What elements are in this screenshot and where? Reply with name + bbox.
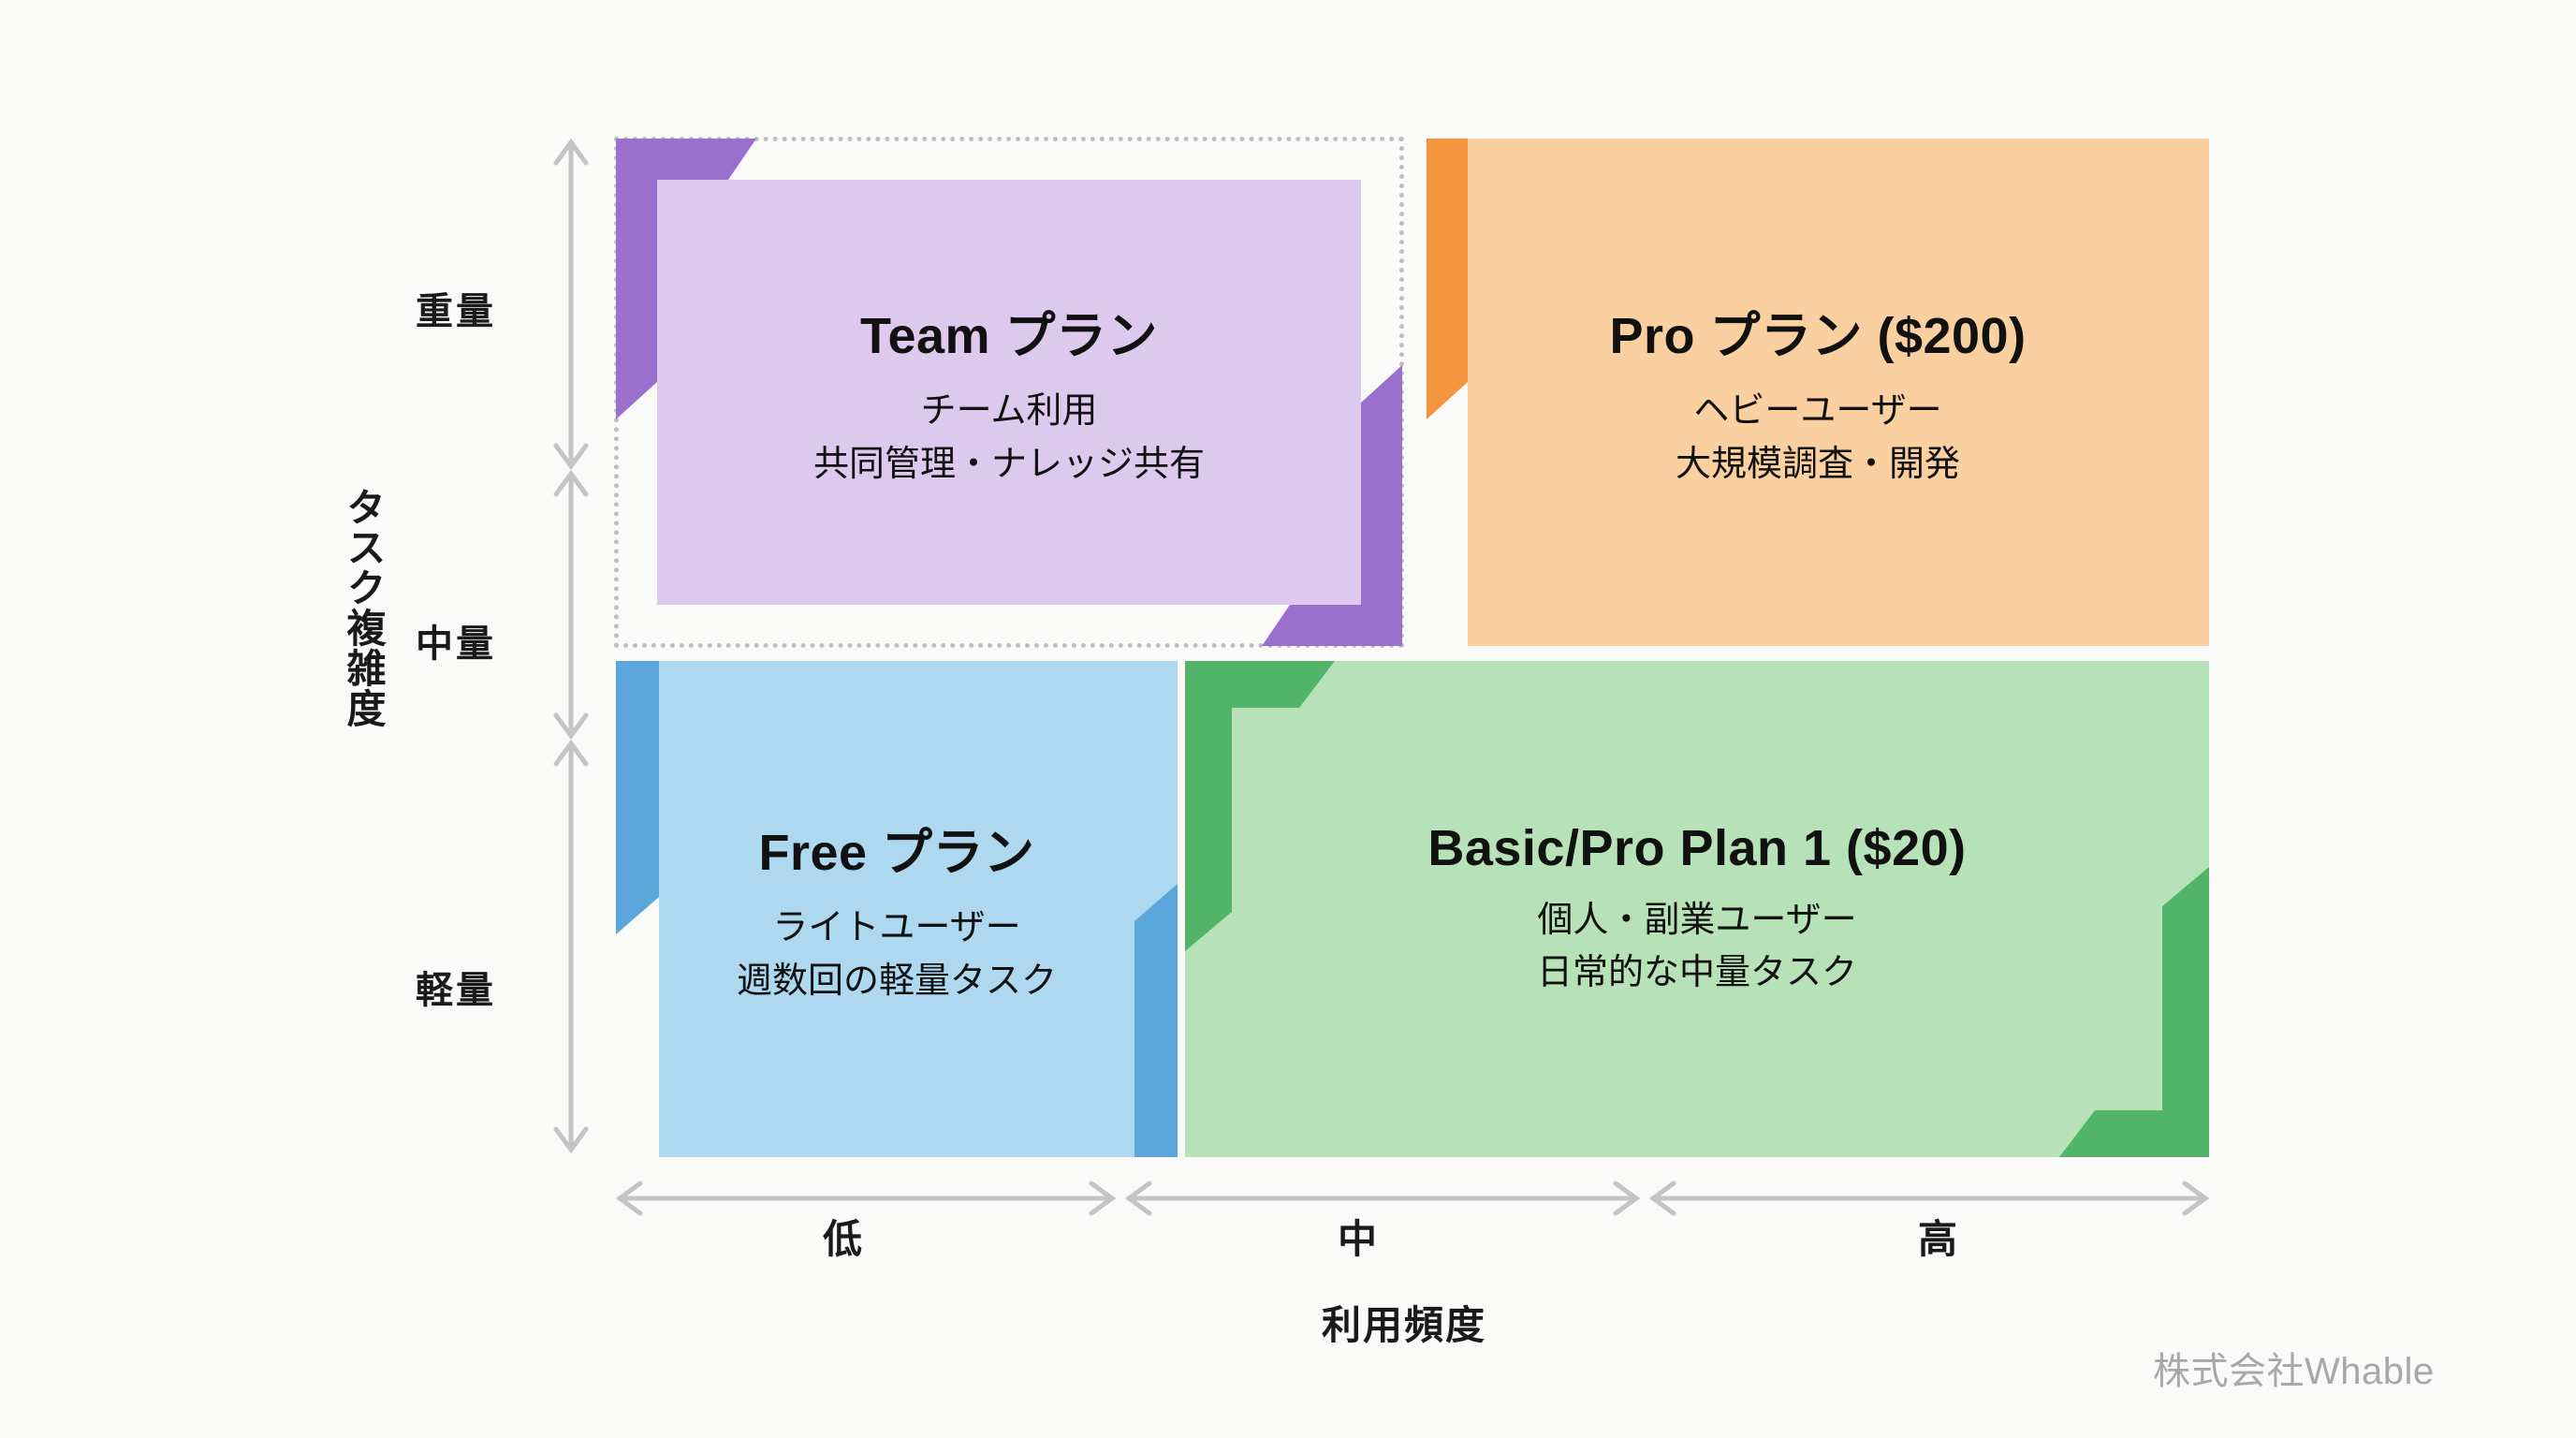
x-tick-label-high: 高 [1732, 1208, 2144, 1265]
x-tick-label-mid: 中 [1151, 1208, 1563, 1265]
quadrant-matrix-slide: タスク複雑度 重量 中量 軽量 [0, 0, 2576, 1438]
y-tick-label-medium: 中量 [309, 613, 496, 668]
card-team[interactable]: Team プラン チーム利用 共同管理・ナレッジ共有 [616, 139, 1402, 646]
card-pro[interactable]: Pro プラン ($200) ヘビーユーザー 大規模調査・開発 [1427, 139, 2209, 646]
card-free-title: Free プラン [758, 811, 1034, 885]
card-pro-sub2: 大規模調査・開発 [1676, 438, 1960, 491]
y-tick-label-light: 軽量 [309, 960, 496, 1014]
card-basic-sub2: 日常的な中量タスク [1537, 946, 1857, 999]
card-free-sub2: 週数回の軽量タスク [737, 955, 1057, 1007]
card-basic-sub1: 個人・副業ユーザー [1537, 894, 1856, 946]
card-basic-title: Basic/Pro Plan 1 ($20) [1427, 819, 1966, 877]
card-free-body: Free プラン ライトユーザー 週数回の軽量タスク [616, 661, 1178, 1157]
y-axis-arrows [543, 131, 608, 1161]
card-team-sub2: 共同管理・ナレッジ共有 [813, 438, 1205, 491]
card-free-sub1: ライトユーザー [772, 902, 1020, 954]
card-pro-body: Pro プラン ($200) ヘビーユーザー 大規模調査・開発 [1427, 139, 2209, 646]
company-watermark: 株式会社Whable [2153, 1341, 2435, 1395]
x-axis-title: 利用頻度 [1151, 1294, 1657, 1351]
card-team-sub1: チーム利用 [921, 385, 1098, 437]
y-axis-title: タスク複雑度 [309, 487, 384, 728]
card-free[interactable]: Free プラン ライトユーザー 週数回の軽量タスク [616, 661, 1178, 1157]
card-pro-title: Pro プラン ($200) [1609, 294, 2026, 368]
card-basic-body: Basic/Pro Plan 1 ($20) 個人・副業ユーザー 日常的な中量タ… [1185, 661, 2209, 1157]
card-basic[interactable]: Basic/Pro Plan 1 ($20) 個人・副業ユーザー 日常的な中量タ… [1185, 661, 2209, 1157]
card-team-body: Team プラン チーム利用 共同管理・ナレッジ共有 [616, 139, 1402, 646]
x-tick-label-low: 低 [637, 1208, 1048, 1265]
y-tick-label-heavy: 重量 [309, 281, 496, 335]
card-pro-sub1: ヘビーユーザー [1693, 385, 1941, 437]
card-team-title: Team プラン [860, 294, 1158, 368]
